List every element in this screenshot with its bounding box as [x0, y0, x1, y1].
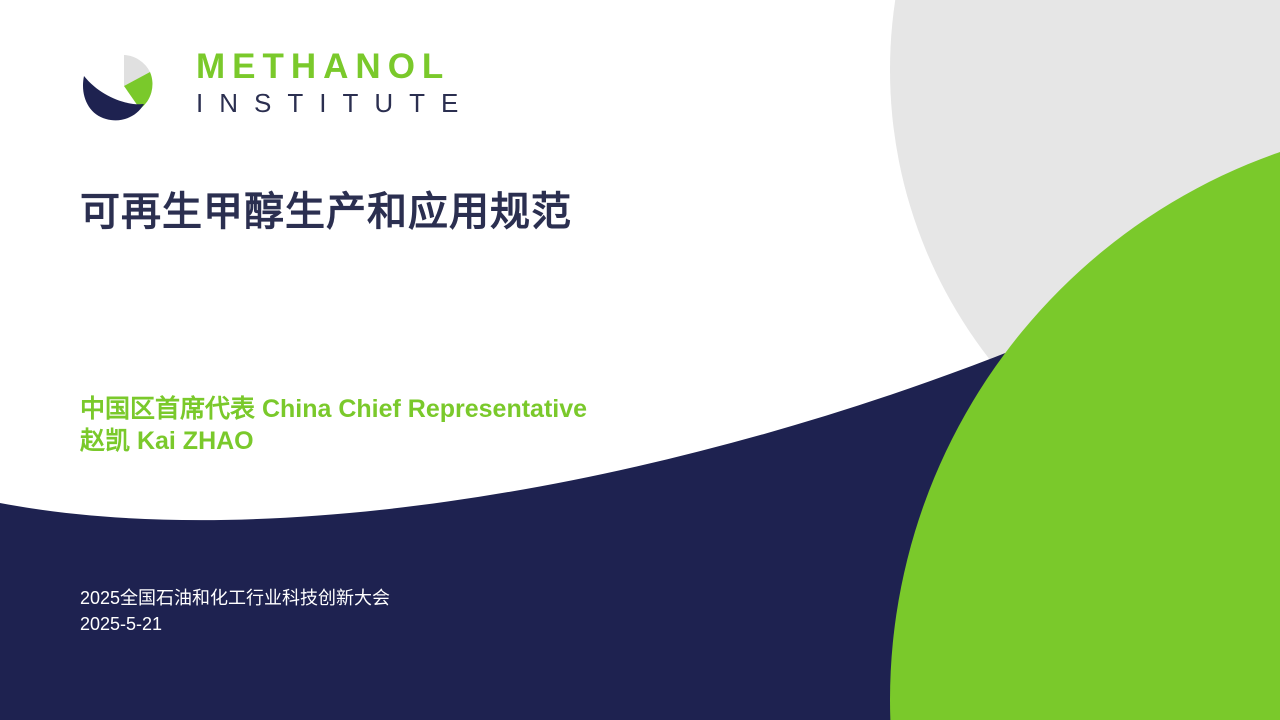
- footer-event-name: 2025全国石油和化工行业科技创新大会: [80, 585, 800, 611]
- presentation-title-slide: METHANOL INSTITUTE 可再生甲醇生产和应用规范 中国区首席代表 …: [0, 0, 1280, 720]
- methanol-institute-crescent-mark-icon: [80, 50, 158, 124]
- logo-wordmark: METHANOL INSTITUTE: [196, 48, 536, 118]
- methanol-institute-logo: METHANOL INSTITUTE: [80, 48, 540, 126]
- slide-title: 可再生甲醇生产和应用规范: [80, 186, 880, 238]
- logo-wordmark-methanol: METHANOL: [196, 48, 536, 86]
- logo-wordmark-institute: INSTITUTE: [196, 88, 536, 118]
- speaker-role: 中国区首席代表 China Chief Representative: [80, 393, 800, 425]
- footer-date: 2025-5-21: [80, 611, 800, 637]
- speaker-info: 中国区首席代表 China Chief Representative 赵凯 Ka…: [80, 393, 800, 457]
- slide-footer: 2025全国石油和化工行业科技创新大会 2025-5-21: [80, 585, 800, 637]
- speaker-name: 赵凯 Kai ZHAO: [80, 425, 800, 457]
